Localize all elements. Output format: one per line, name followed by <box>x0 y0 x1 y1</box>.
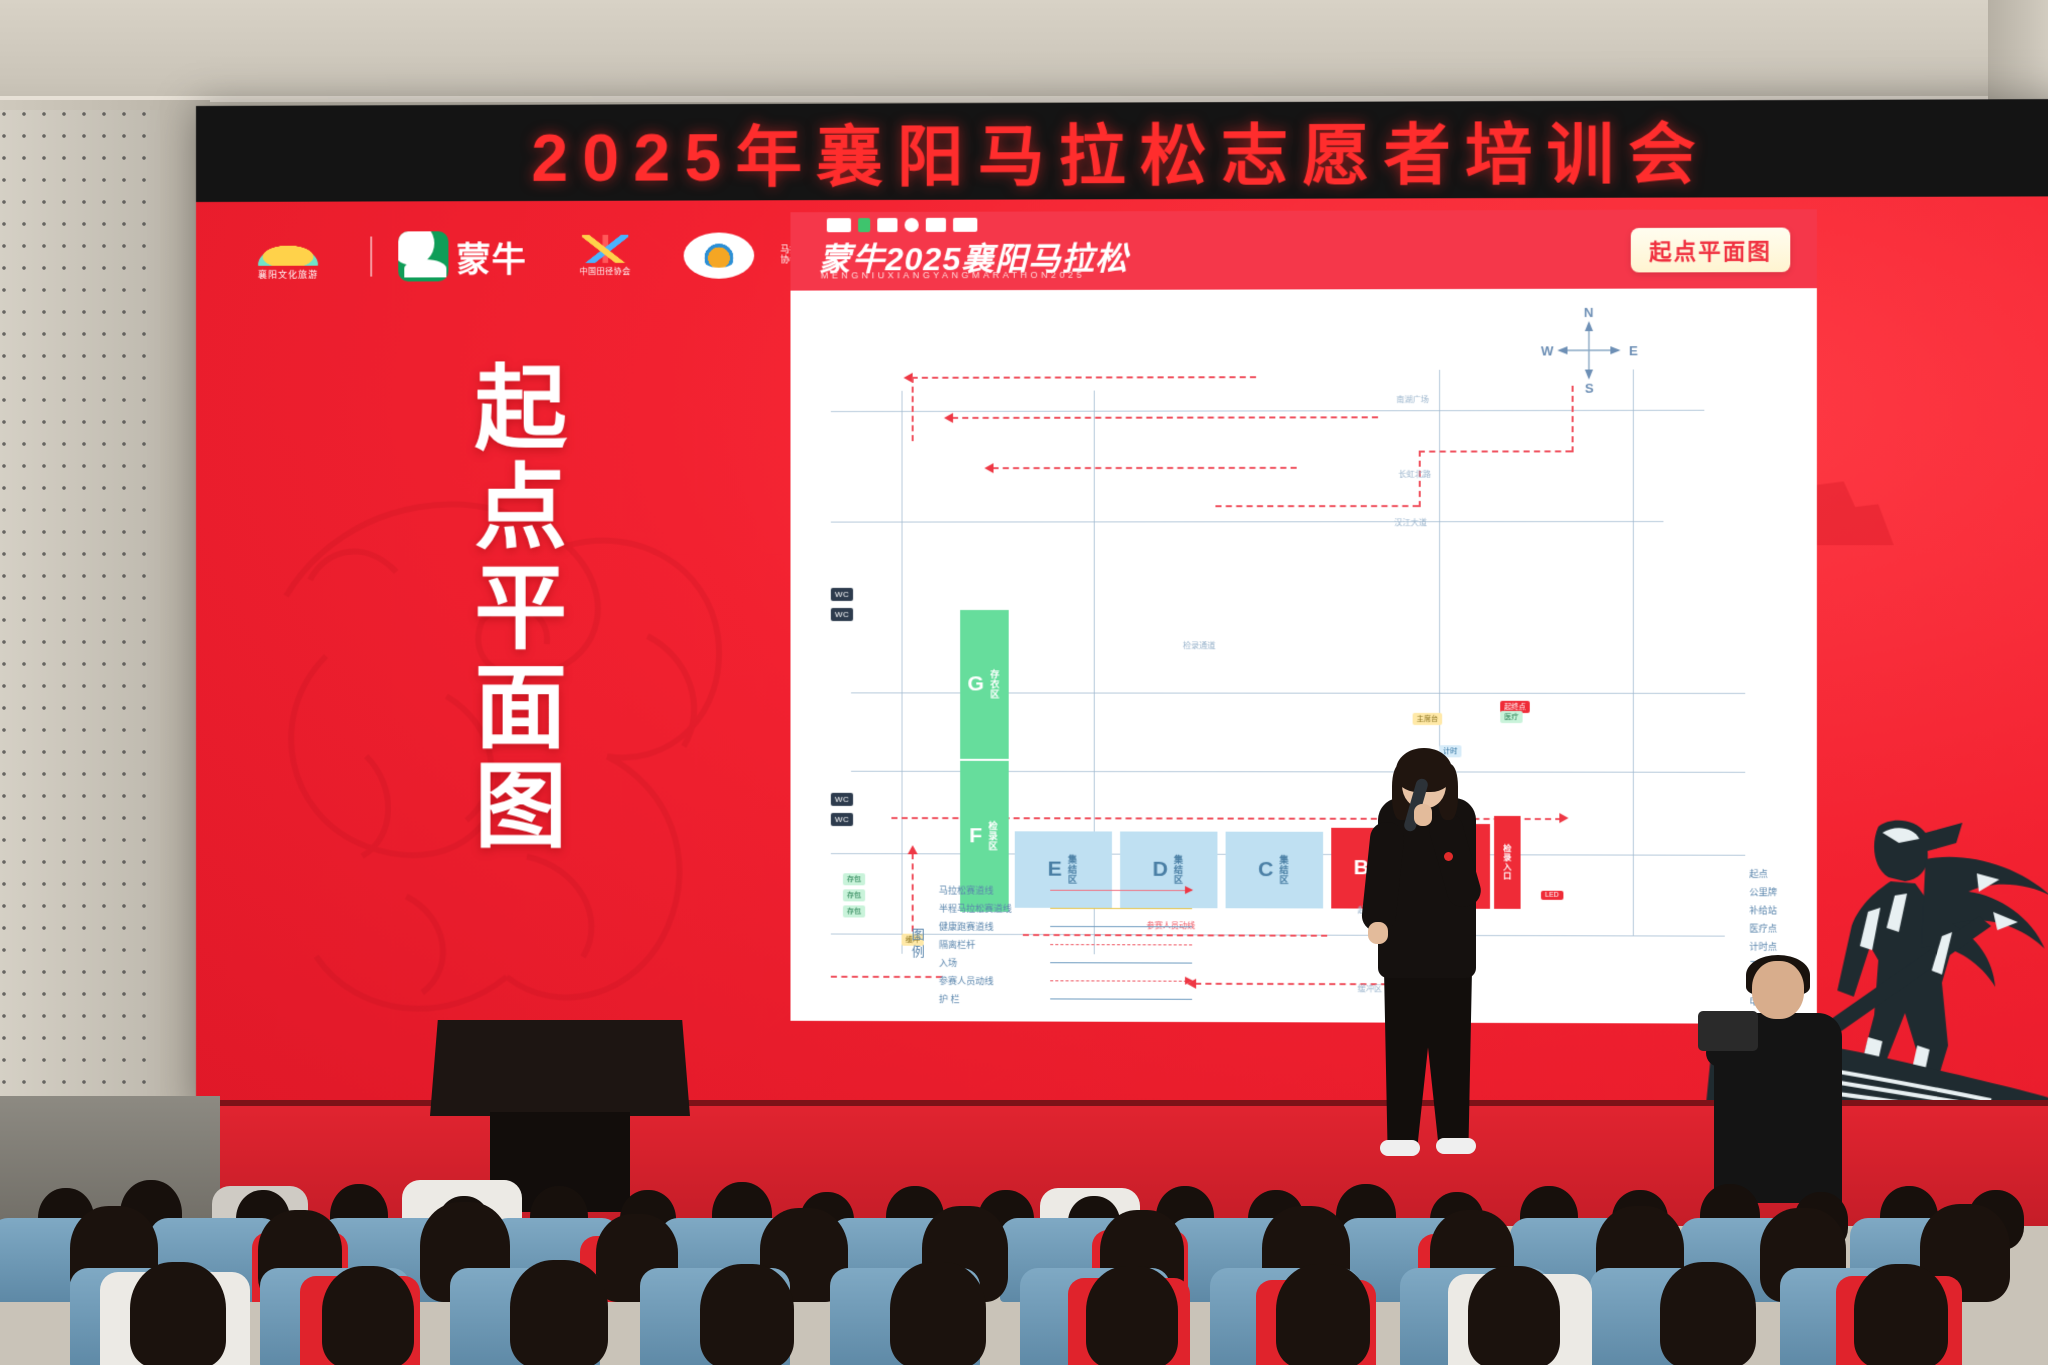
slide-header: 蒙牛2025襄阳马拉松 MENGNIUXIANGYANGMARATHON2025… <box>790 209 1816 290</box>
legend-title: 图例 <box>908 927 927 961</box>
mini-logo-icon <box>877 218 897 232</box>
wc-marker: WC <box>831 793 854 806</box>
presenter-legs <box>1384 970 1472 1146</box>
audience-head <box>322 1266 414 1365</box>
zone-block-G: G 存衣区 <box>960 610 1009 759</box>
sponsor-logo-mengniu: 蒙牛 <box>398 227 526 285</box>
route-dash <box>993 467 1297 469</box>
compass-north-label: N <box>1584 305 1594 320</box>
route-dash-vertical <box>912 377 914 441</box>
zone-letter: G <box>968 672 985 696</box>
legend-right-item: 公里牌 <box>1749 885 1786 898</box>
sponsor-logo-china-athletics: 中国田径协会 <box>553 229 658 283</box>
sponsor-caption: 中国田径协会 <box>580 266 631 277</box>
street-label: 汉江大道 <box>1394 517 1427 528</box>
legend-label: 参赛人员动线 <box>939 974 1036 987</box>
zone-name: 集结区 <box>1277 855 1290 885</box>
vtitle-char-4: 图 <box>446 759 597 859</box>
legend-symbol-dashed-red-arrow <box>1050 977 1192 985</box>
zone-name: 存衣区 <box>988 669 1001 699</box>
wc-marker: WC <box>831 608 854 621</box>
route-dash <box>912 376 1256 379</box>
vtitle-char-3: 面 <box>446 659 597 759</box>
road-line-vertical <box>902 391 903 954</box>
map-canvas: N S W E <box>790 288 1816 1024</box>
audience-head <box>1086 1266 1178 1365</box>
route-arrow-left-icon <box>944 413 953 423</box>
mengniu-mini-icon <box>858 218 870 232</box>
legend-label: 马拉松赛道线 <box>939 883 1036 896</box>
legend-symbol-solid-grey <box>1050 959 1192 967</box>
legend-row: 健康跑赛道线 <box>939 920 1192 934</box>
route-dash <box>952 416 1378 419</box>
presenter-badge-pin <box>1444 852 1453 861</box>
legend-right-item: 医疗点 <box>1749 922 1786 935</box>
led-chip: LED <box>1541 891 1563 900</box>
legend-right-item: 起点 <box>1749 867 1786 880</box>
perforated-acoustic-panel <box>0 110 160 1120</box>
map-legend: 图例 马拉松赛道线 半程马拉松赛道线 健康跑赛道线 <box>908 883 1193 1005</box>
slide-map-badge: 起点平面图 <box>1631 228 1790 273</box>
legend-right-item: 补给站 <box>1749 903 1786 916</box>
legend-label: 半程马拉松赛道线 <box>939 902 1036 915</box>
road-line <box>831 521 1664 523</box>
legend-symbol-solid-yellow-arrow <box>1050 904 1192 912</box>
zone-name: 集结区 <box>1066 855 1079 885</box>
facility-chip-green: 存包 <box>843 889 865 901</box>
slide-marathon-logo-sub: MENGNIUXIANGYANGMARATHON2025 <box>821 270 1085 281</box>
presenter-hand <box>1414 804 1432 826</box>
mini-logo-icon <box>905 218 919 232</box>
sponsor-divider <box>370 237 372 277</box>
legend-rows: 马拉松赛道线 半程马拉松赛道线 健康跑赛道线 隔离栏杆 <box>939 883 1192 1005</box>
xiangyang-culture-icon <box>236 233 340 265</box>
audience-head <box>890 1262 986 1365</box>
legend-row: 参赛人员动线 <box>939 974 1192 988</box>
legend-label: 入场 <box>939 956 1036 969</box>
audience-head <box>130 1262 226 1365</box>
street-label: 长虹北路 <box>1398 469 1431 480</box>
banner-vertical-title: 起 点 平 面 图 <box>446 360 597 858</box>
sponsor-caption: 蒙牛 <box>456 232 526 281</box>
zone-letter: C <box>1258 858 1273 882</box>
audience-head <box>1276 1264 1370 1365</box>
legend-row: 马拉松赛道线 <box>939 883 1192 897</box>
compass-rose-icon: N S W E <box>1543 307 1635 394</box>
route-dash <box>1215 505 1418 507</box>
route-dash <box>1419 450 1572 452</box>
zone-block-C: C 集结区 <box>1226 832 1324 909</box>
presenter <box>1352 748 1502 1168</box>
legend-right-item: 计时点 <box>1749 940 1786 953</box>
facility-chip-green: 医疗 <box>1500 711 1522 723</box>
audience-head <box>700 1264 794 1365</box>
presenter-hand <box>1368 922 1388 944</box>
road-line-vertical <box>1633 369 1634 935</box>
legend-row: 半程马拉松赛道线 <box>939 902 1192 916</box>
camera-icon <box>1698 1011 1758 1051</box>
street-label: 检录通道 <box>1183 640 1215 651</box>
china-athletics-icon <box>582 235 628 263</box>
vtitle-char-0: 起 <box>446 360 597 460</box>
legend-row: 护 栏 <box>939 992 1192 1006</box>
sponsor-logo-city-seal <box>684 232 755 278</box>
mini-runner-icon <box>926 218 946 232</box>
zone-letter: F <box>969 824 982 848</box>
compass-east-label: E <box>1629 343 1638 358</box>
legend-symbol-dashed-red <box>1050 941 1192 949</box>
street-label: 南湖广场 <box>1396 394 1429 405</box>
zone-letter: E <box>1048 858 1062 882</box>
slide-mini-logo-row <box>827 218 978 232</box>
mini-logo-icon <box>827 218 851 232</box>
legend-symbol-solid-grey <box>1050 995 1192 1003</box>
legend-label: 健康跑赛道线 <box>939 920 1036 933</box>
projected-slide: 蒙牛2025襄阳马拉松 MENGNIUXIANGYANGMARATHON2025… <box>790 209 1816 1024</box>
legend-label: 护 栏 <box>939 992 1036 1005</box>
facility-chip-yellow: 主席台 <box>1413 713 1443 725</box>
camera-operator-head <box>1752 961 1804 1019</box>
audience-row-front <box>0 1258 2048 1365</box>
compass-south-label: S <box>1585 381 1594 396</box>
facility-chip-green: 存包 <box>843 873 865 885</box>
zone-letter: D <box>1152 858 1167 882</box>
vtitle-char-1: 点 <box>446 460 597 560</box>
sponsor-caption: 襄阳文化旅游 <box>258 267 318 280</box>
legend-label: 隔离栏杆 <box>939 938 1036 951</box>
zone-name: 集结区 <box>1172 855 1185 885</box>
mini-logo-icon <box>953 218 977 232</box>
entrance-label: 检录入口 <box>1502 844 1513 880</box>
audience-head <box>1660 1262 1756 1365</box>
wc-marker: WC <box>831 588 854 601</box>
legend-symbol-solid-red-arrow <box>1050 886 1192 894</box>
city-seal-icon <box>700 244 738 268</box>
zone-name: 检录区 <box>986 821 999 851</box>
audience <box>0 1140 2048 1365</box>
audience-head <box>1468 1266 1560 1365</box>
legend-row: 入场 <box>939 956 1192 970</box>
legend-symbol-solid-blue-arrow <box>1050 922 1192 930</box>
route-arrow-up-icon <box>908 845 918 854</box>
banner-title: 2025年襄阳马拉松志愿者培训会 <box>531 100 1710 201</box>
vtitle-char-2: 平 <box>446 560 597 660</box>
route-dash-vertical <box>1572 386 1574 453</box>
screenshot-root: 2025年襄阳马拉松志愿者培训会 襄阳文化旅游 蒙牛 中国田径协会 马拉松协会 <box>0 0 2048 1365</box>
mengniu-icon <box>398 231 448 281</box>
audience-head <box>1854 1264 1948 1365</box>
facility-chip-green: 存包 <box>843 905 865 917</box>
route-arrow-left-icon <box>984 463 993 473</box>
compass-west-label: W <box>1541 343 1554 358</box>
wc-marker: WC <box>831 813 854 826</box>
podium-top <box>430 1020 690 1116</box>
sponsor-logo-xiangyang-culture-tourism: 襄阳文化旅游 <box>232 230 344 284</box>
audience-head <box>510 1260 608 1365</box>
route-arrow-right-icon <box>1559 813 1568 823</box>
banner-title-bar: 2025年襄阳马拉松志愿者培训会 <box>196 99 2048 202</box>
legend-row: 隔离栏杆 <box>939 938 1192 952</box>
